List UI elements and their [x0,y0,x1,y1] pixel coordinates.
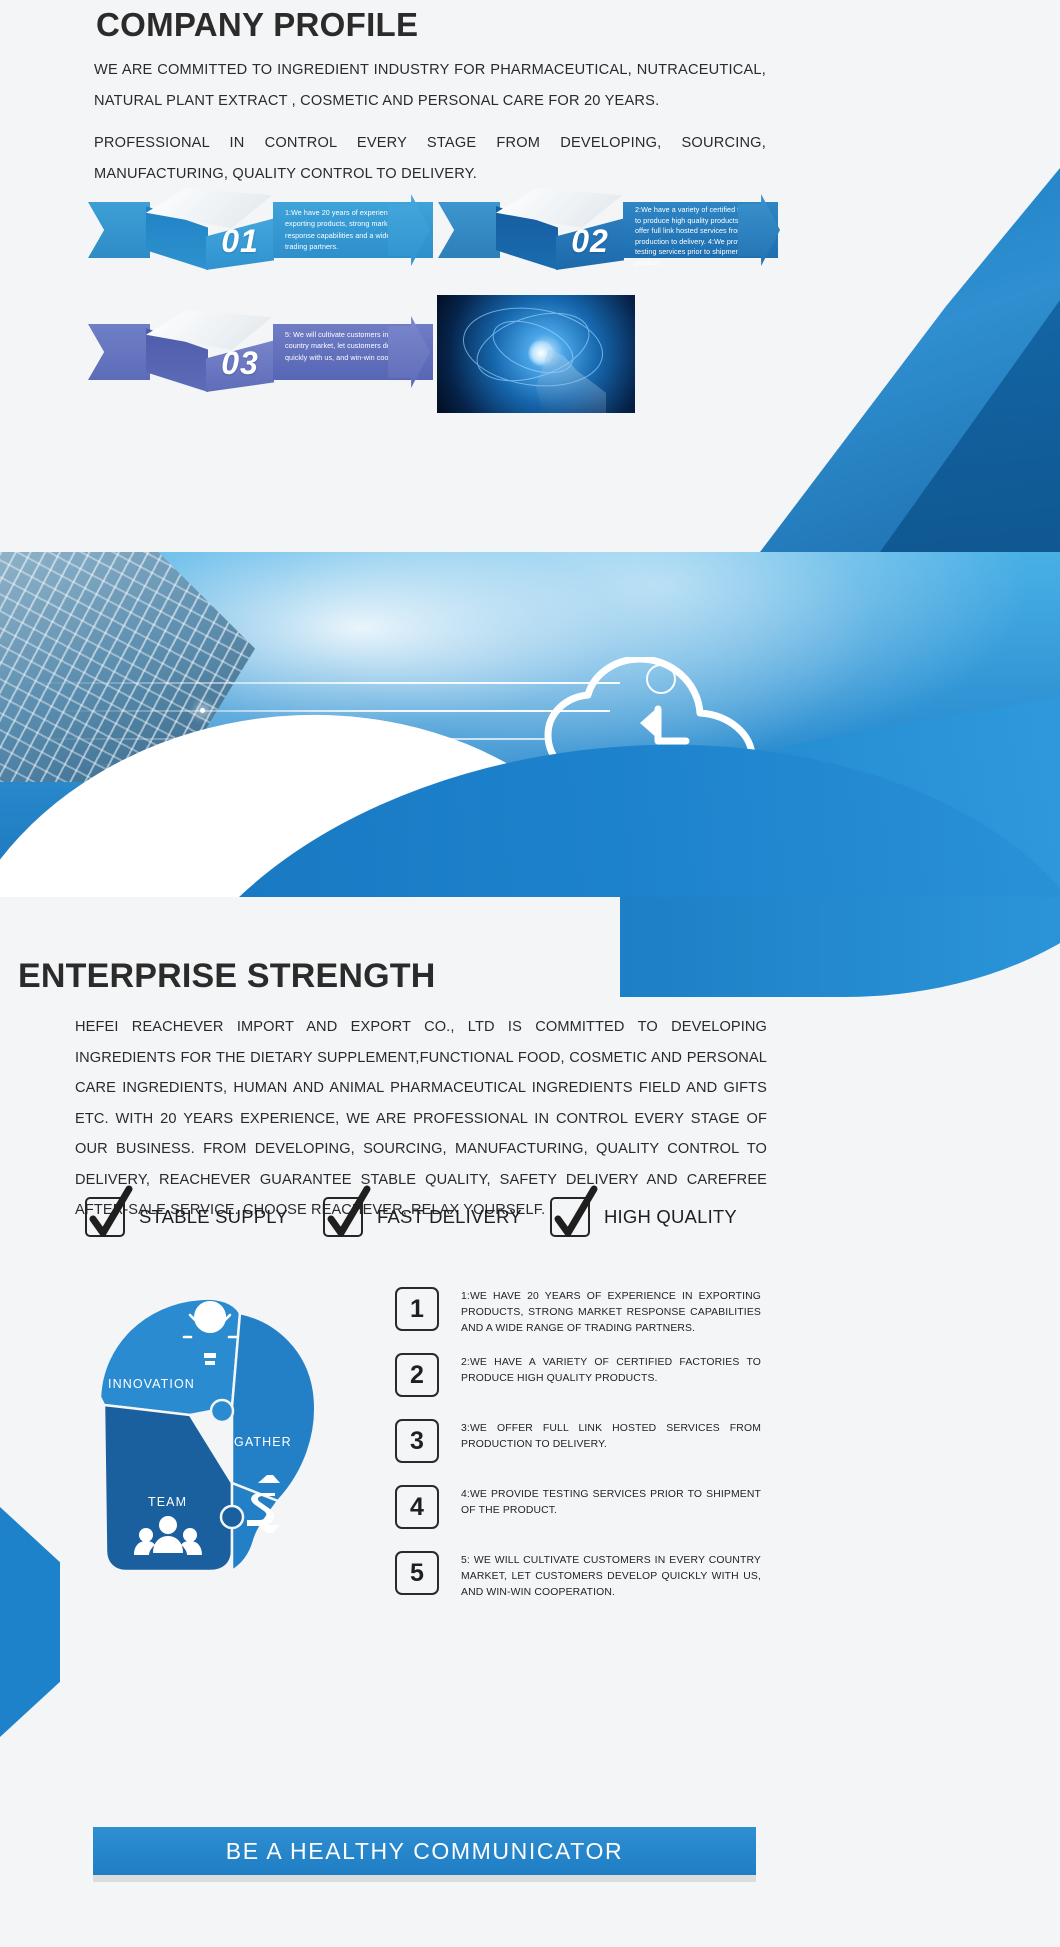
list-item-text: 1:WE HAVE 20 YEARS OF EXPERIENCE IN EXPO… [461,1285,761,1337]
list-item-text: 4:WE PROVIDE TESTING SERVICES PRIOR TO S… [461,1483,761,1519]
list-item: 5 5: WE WILL CULTIVATE CUSTOMERS IN EVER… [395,1549,785,1615]
feature-stable-supply: STABLE SUPPLY [85,1197,288,1237]
ribbon-tail [88,202,150,258]
list-number-badge: 3 [395,1419,439,1463]
profile-paragraph-2: PROFESSIONAL IN CONTROL EVERY STAGE FROM… [94,128,766,190]
brain-label-innovation: INNOVATION [108,1377,195,1391]
download-arrow-icon [640,707,658,739]
footer-banner-shadow [93,1875,756,1882]
ribbon-number-label: 02 [556,212,624,270]
strength-paragraph: HEFEI REACHEVER IMPORT AND EXPORT CO., L… [75,1012,767,1226]
ribbon-number-label: 03 [206,334,274,392]
stream-line [20,682,620,684]
list-item: 2 2:WE HAVE A VARIETY OF CERTIFIED FACTO… [395,1351,785,1417]
list-number-badge: 1 [395,1287,439,1331]
ribbon-step-02: 02 2:We have a variety of certified fact… [438,188,783,270]
node-dot-icon [200,708,205,713]
checkbox-outline [323,1197,363,1237]
puzzle-knob [211,1400,233,1422]
footer-slogan-banner: BE A HEALTHY COMMUNICATOR [93,1827,756,1875]
ribbon-tail [438,202,500,258]
list-number-badge: 2 [395,1353,439,1397]
ribbon-step-03: 03 5: We will cultivate customers in eve… [88,310,428,392]
feature-label: HIGH QUALITY [604,1206,737,1228]
feature-high-quality: HIGH QUALITY [550,1197,737,1237]
checkbox-outline [85,1197,125,1237]
ribbon-step-01: 01 1:We have 20 years of experience in e… [88,188,428,270]
ribbon-number-label: 01 [206,212,274,270]
company-profile-infographic: COMPANY PROFILE WE ARE COMMITTED TO INGR… [0,0,1060,1947]
brain-label-gather: GATHER [234,1435,292,1449]
check-mark-icon [319,1183,375,1245]
feature-label: STABLE SUPPLY [139,1206,288,1228]
puzzle-knob [221,1506,243,1528]
company-profile-section: COMPANY PROFILE WE ARE COMMITTED TO INGR… [0,0,1060,552]
profile-paragraph-1: WE ARE COMMITTED TO INGREDIENT INDUSTRY … [94,55,766,117]
check-mark-icon [81,1183,137,1245]
footer-slogan-text: BE A HEALTHY COMMUNICATOR [226,1838,623,1865]
segment-gather [232,1313,315,1517]
list-number-badge: 4 [395,1485,439,1529]
check-mark-icon [546,1183,602,1245]
decorative-blue-left-wedge [0,1507,60,1737]
feature-checklist: STABLE SUPPLY FAST DELIVERY HIGH QUALITY [85,1197,785,1267]
feature-fast-delivery: FAST DELIVERY [323,1197,522,1237]
list-item-text: 2:WE HAVE A VARIETY OF CERTIFIED FACTORI… [461,1351,761,1387]
list-item-text: 3:WE OFFER FULL LINK HOSTED SERVICES FRO… [461,1417,761,1453]
strength-title: ENTERPRISE STRENGTH [18,957,436,996]
feature-label: FAST DELIVERY [377,1206,522,1228]
brain-head-silhouette [82,1287,362,1587]
brain-label-team: TEAM [148,1495,187,1509]
hero-banner-image [0,552,1060,897]
list-number-badge: 5 [395,1551,439,1595]
list-item: 3 3:WE OFFER FULL LINK HOSTED SERVICES F… [395,1417,785,1483]
list-item: 4 4:WE PROVIDE TESTING SERVICES PRIOR TO… [395,1483,785,1549]
ribbon-tail [88,324,150,380]
strength-numbered-list: 1 1:WE HAVE 20 YEARS OF EXPERIENCE IN EX… [395,1285,785,1615]
list-item: 1 1:WE HAVE 20 YEARS OF EXPERIENCE IN EX… [395,1285,785,1351]
list-item-text: 5: WE WILL CULTIVATE CUSTOMERS IN EVERY … [461,1549,761,1601]
enterprise-strength-section: ENTERPRISE STRENGTH HEFEI REACHEVER IMPO… [0,897,1060,1947]
decorative-blue-swoosh [620,897,1060,997]
page-title: COMPANY PROFILE [96,6,418,44]
idea-lightbulb-photo [437,295,635,413]
brain-puzzle-graphic: INNOVATION GATHER TEAM [82,1287,362,1587]
stream-line [50,710,610,712]
checkbox-outline [550,1197,590,1237]
